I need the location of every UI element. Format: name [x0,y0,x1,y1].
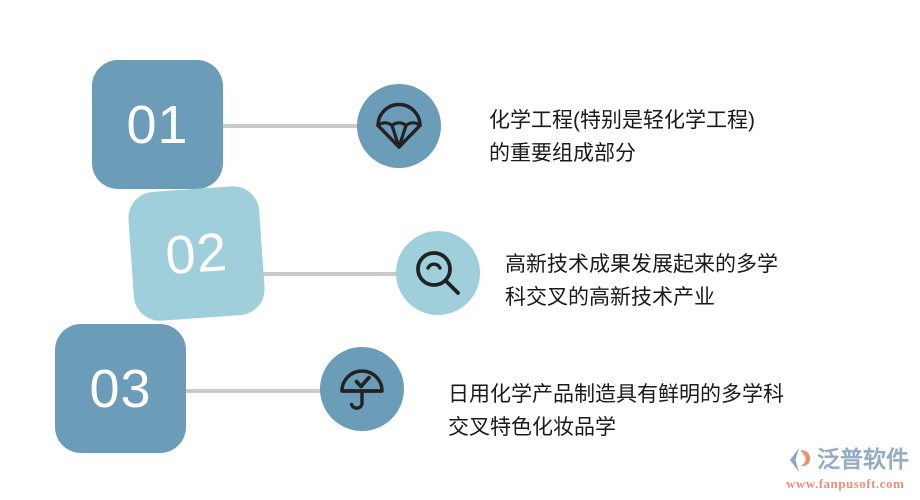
watermark-brand-row: 泛普软件 [786,444,914,475]
infographic-canvas: 01 02 03 [0,0,920,500]
step-icon-circle-03[interactable] [320,347,404,431]
step-number-box-01[interactable]: 01 [92,60,223,189]
fanpu-logo-icon [786,446,814,474]
step-icon-circle-02[interactable] [396,231,480,315]
step-icon-circle-01[interactable] [357,84,441,168]
magnifier-icon [413,248,463,298]
connector-line-02 [258,272,410,276]
connector-line-03 [182,389,334,393]
step-description-02: 高新技术成果发展起来的多学 科交叉的高新技术产业 [505,248,877,314]
step-number-box-03[interactable]: 03 [55,324,186,453]
connector-line-01 [219,124,371,128]
watermark: 泛普软件 www.fanpusoft.com [786,444,914,494]
step-number-label-02: 02 [164,224,230,282]
watermark-url-label: www.fanpusoft.com [786,476,914,492]
umbrella-check-icon [337,364,387,414]
step-number-label-01: 01 [126,98,188,152]
step-number-label-03: 03 [89,362,151,416]
step-description-01: 化学工程(特别是轻化学工程) 的重要组成部分 [489,104,861,170]
step-number-box-02[interactable]: 02 [127,185,267,323]
step-description-03: 日用化学产品制造具有鲜明的多学科 交叉特色化妆品学 [448,378,860,444]
watermark-brand-label: 泛普软件 [817,446,909,474]
parachute-icon [374,101,424,151]
